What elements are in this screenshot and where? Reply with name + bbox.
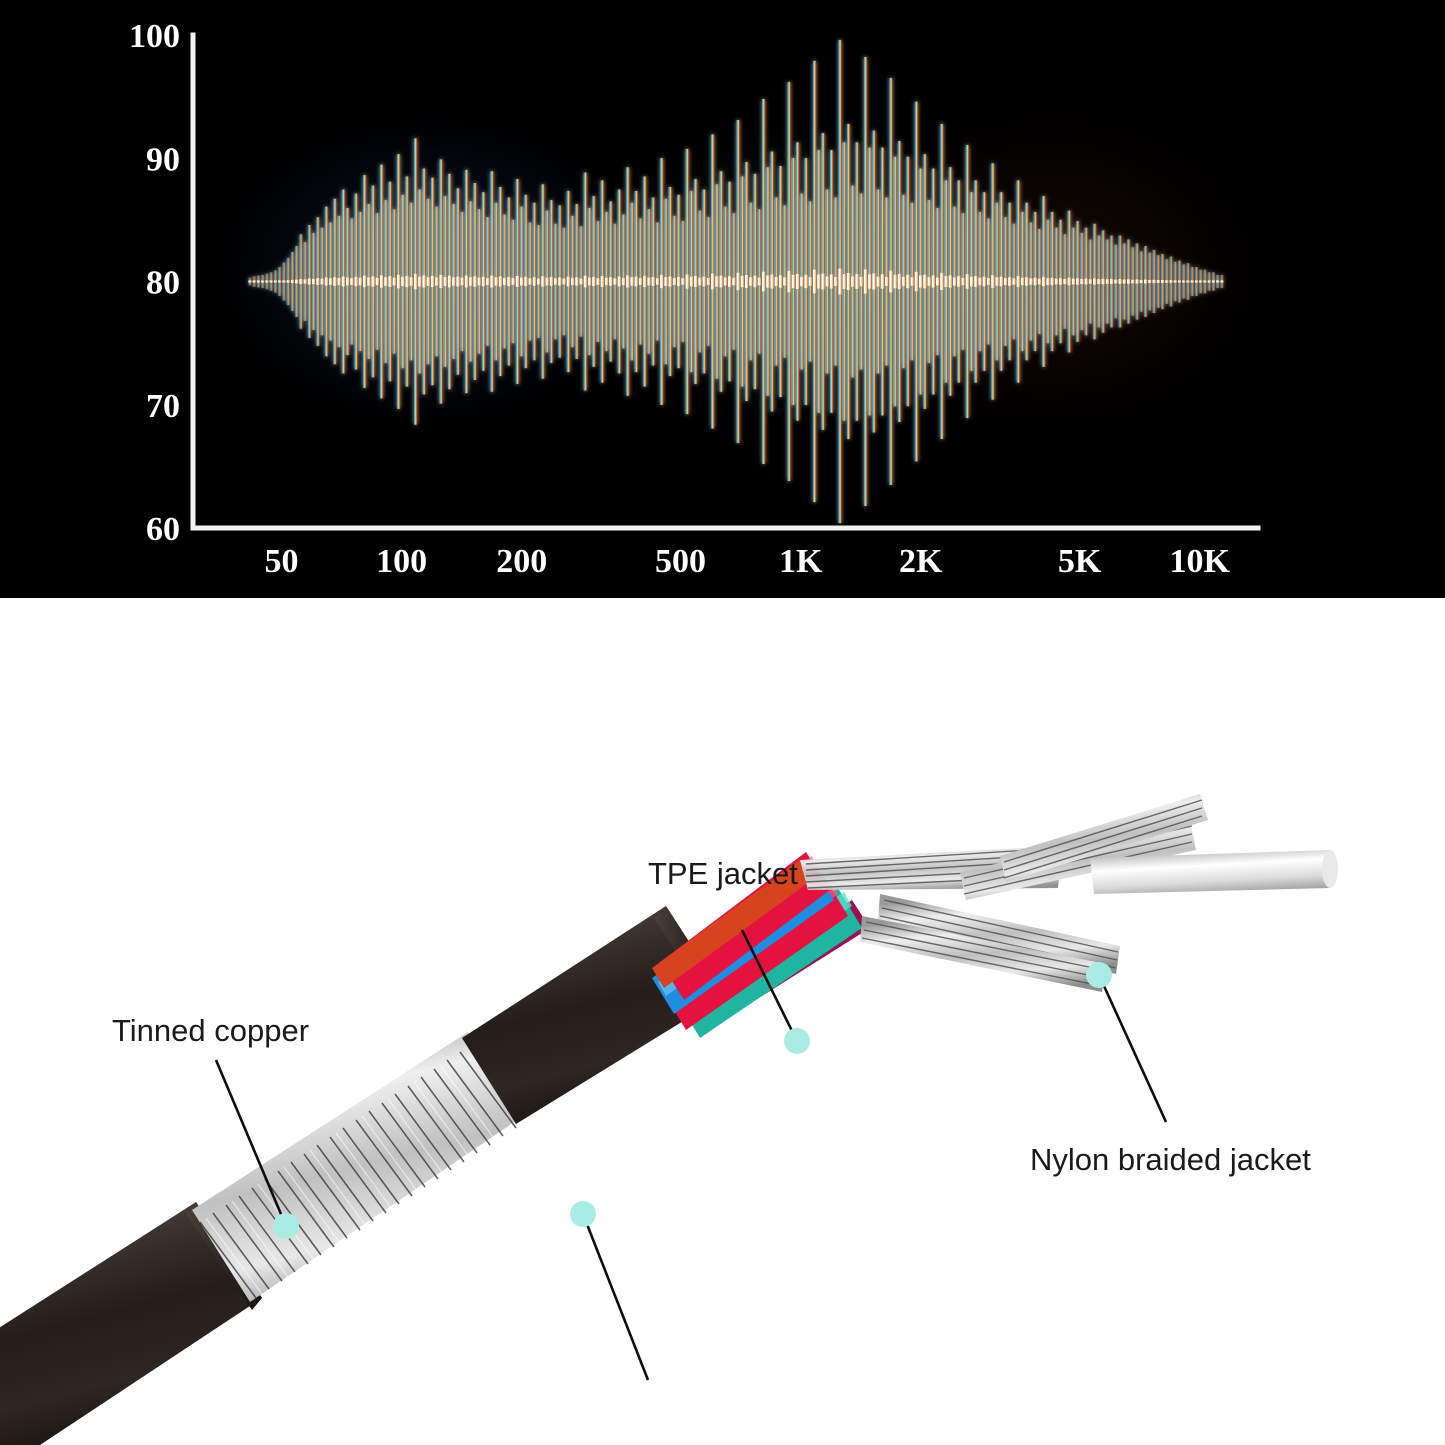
waveform-core-segment [291, 280, 294, 283]
waveform-core-segment [461, 278, 464, 285]
waveform-core-segment [448, 276, 451, 288]
waveform-core-segment [529, 278, 532, 284]
waveform-core-segment [507, 277, 510, 286]
waveform-core-segment [397, 275, 400, 289]
waveform-core-segment [1106, 279, 1109, 284]
waveform-core-segment [1012, 278, 1015, 284]
waveform-core-segment [877, 277, 880, 287]
x-tick-label: 10K [1169, 543, 1230, 580]
waveform-core-segment [1042, 277, 1045, 286]
waveform-core-segment [838, 269, 841, 295]
waveform-core-segment [1148, 280, 1151, 283]
waveform-core-segment [978, 278, 981, 285]
waveform-core-segment [380, 275, 383, 288]
waveform-core-segment [826, 277, 829, 287]
waveform-core-segment [588, 278, 591, 286]
waveform-core-segment [465, 275, 468, 287]
waveform-core-segment [308, 278, 311, 284]
waveform-core-segment [456, 276, 459, 286]
waveform-core-segment [749, 277, 752, 285]
waveform-core-segment [635, 277, 638, 287]
waveform-core-segment [1199, 280, 1202, 282]
waveform-core-segment [1195, 280, 1198, 282]
waveform-core-segment [287, 280, 290, 283]
waveform-core-segment [265, 280, 268, 282]
waveform-core-segment [422, 275, 425, 287]
waveform-core-segment [1127, 279, 1130, 284]
waveform-core-segment [613, 278, 616, 284]
waveform-core-segment [414, 274, 417, 289]
x-tick-label: 200 [496, 543, 547, 580]
y-axis-tick-labels: 10090807060 [129, 18, 180, 548]
waveform-core-segment [546, 278, 549, 286]
waveform-core-segment [1178, 280, 1181, 282]
waveform-core-segment [350, 278, 353, 285]
y-tick-label: 60 [146, 511, 180, 548]
callout-dot-enamelled-copper [570, 1201, 596, 1227]
waveform-core-segment [1059, 278, 1062, 285]
waveform-core-segment [299, 279, 302, 284]
waveform-core-segment [355, 277, 358, 286]
waveform-core-segment [338, 278, 341, 285]
waveform-core-segment [1000, 277, 1003, 287]
waveform-core-segment [911, 277, 914, 285]
waveform-core-segment [490, 276, 493, 288]
waveform-core-segment [804, 275, 807, 288]
waveform-core-segment [898, 274, 901, 289]
product-infographic: 10090807060 501002005001K2K5K10K High fi… [0, 0, 1445, 1445]
waveform-core-segment [796, 274, 799, 289]
waveform-core-segment [584, 276, 587, 288]
waveform-core-segment [754, 276, 757, 288]
waveform-core-segment [711, 274, 714, 290]
waveform-core-segment [558, 277, 561, 285]
waveform-core-segment [745, 275, 748, 288]
waveform-core-segment [478, 278, 481, 286]
waveform-core-segment [550, 277, 553, 286]
waveform-core-segment [647, 278, 650, 286]
waveform-core-segment [775, 277, 778, 286]
waveform-core-segment [715, 276, 718, 286]
waveform-core-segment [1136, 279, 1139, 283]
waveform-core-segment [571, 278, 574, 285]
waveform-core-segment [1220, 280, 1223, 282]
waveform-core-segment [541, 276, 544, 286]
waveform-core-segment [257, 280, 260, 282]
waveform-core-segment [596, 278, 599, 285]
waveform-core-segment [945, 276, 948, 287]
waveform-core-segment [516, 276, 519, 287]
waveform-core-segment [779, 275, 782, 287]
waveform-core-segment [957, 276, 960, 287]
y-tick-label: 90 [146, 141, 180, 178]
waveform-core-segment [843, 274, 846, 289]
waveform-core-segment [732, 278, 735, 285]
cable-diagram-svg: TPE jacketTinned copperNylon braided jac… [0, 598, 1445, 1445]
waveform-core-segment [834, 277, 837, 286]
waveform-core-segment [342, 277, 345, 287]
waveform-core-segment [371, 276, 374, 286]
waveform-core-segment [1157, 280, 1160, 283]
waveform-core-segment [473, 276, 476, 287]
waveform-core-segment [686, 274, 689, 288]
waveform-core-segment [363, 276, 366, 287]
waveform-core-segment [987, 278, 990, 285]
waveform-core-segment [961, 278, 964, 285]
waveform-core-segment [304, 279, 307, 283]
cable-diagram-panel: TPE jacketTinned copperNylon braided jac… [0, 598, 1445, 1445]
waveform-core-segment [486, 278, 489, 285]
waveform-core-segment [851, 276, 854, 286]
waveform-core-segment [1144, 280, 1147, 284]
waveform-core-segment [359, 278, 362, 285]
waveform-core-segment [1034, 278, 1037, 285]
waveform-core-segment [936, 278, 939, 286]
y-tick-label: 100 [129, 18, 180, 55]
waveform-core-segment [601, 276, 604, 287]
waveform-core-segment [1068, 278, 1071, 286]
waveform-core-segment [694, 276, 697, 287]
y-tick-label: 80 [146, 265, 180, 302]
waveform-core-segment [630, 277, 633, 285]
waveform-core-segment [817, 274, 820, 288]
waveform-core-segment [1029, 278, 1032, 284]
waveform-core-segment [855, 274, 858, 289]
waveform-core-segment [452, 277, 455, 285]
waveform-core-segment [766, 275, 769, 287]
waveform-core-segment [1017, 276, 1020, 287]
x-tick-label: 50 [265, 543, 299, 580]
waveform-core-segment [830, 274, 833, 288]
waveform-core-segment [1203, 280, 1206, 282]
waveform-core-segment [401, 277, 404, 286]
cable-shield-braid-left [192, 1032, 520, 1302]
x-tick-label: 500 [655, 543, 706, 580]
waveform-core-segment [1165, 280, 1168, 282]
waveform-core-segment [1216, 280, 1219, 282]
spectrum-chart-svg: 10090807060 501002005001K2K5K10K [0, 0, 1445, 598]
waveform-core-segment [681, 278, 684, 285]
waveform-core-segment [919, 275, 922, 287]
waveform-core-segment [579, 279, 582, 285]
waveform-core-segment [1140, 280, 1143, 283]
waveform-core-segment [1119, 279, 1122, 284]
waveform-core-segment [1208, 280, 1211, 282]
waveform-core-segment [321, 279, 324, 285]
waveform-core-segment [1186, 280, 1189, 282]
waveform-core-segment [1152, 280, 1155, 283]
waveform-core-segment [881, 274, 884, 288]
waveform-core-segment [248, 280, 251, 282]
waveform-core-segment [520, 277, 523, 285]
waveform-core-segment [575, 277, 578, 285]
waveform-core-segment [1182, 280, 1185, 282]
waveform-core-segment [316, 278, 319, 285]
waveform-core-segment [325, 277, 328, 285]
waveform-core-segment [966, 274, 969, 289]
waveform-core-segment [737, 273, 740, 290]
waveform-core-segment [1004, 278, 1007, 285]
x-tick-label: 2K [899, 543, 943, 580]
callout-label-tpe-jacket: TPE jacket [648, 856, 798, 891]
waveform-core-segment [524, 277, 527, 286]
waveform-core-segment [562, 279, 565, 285]
waveform-core-segment [1161, 280, 1164, 283]
waveform-core-segment [427, 277, 430, 286]
waveform-core-segment [762, 272, 765, 292]
waveform-core-segment [554, 278, 557, 284]
waveform-core-segment [652, 277, 655, 286]
waveform-core-segment [983, 277, 986, 287]
waveform-core-segment [1046, 278, 1049, 285]
x-axis-tick-labels: 501002005001K2K5K10K [265, 543, 1231, 580]
waveform-core-segment [889, 271, 892, 293]
waveform-core-segment [758, 278, 761, 286]
waveform-core-segment [847, 273, 850, 290]
waveform-core-segment [1212, 280, 1215, 282]
waveform-core-segment [431, 276, 434, 287]
waveform-core-segment [1076, 278, 1079, 285]
waveform-core-segment [974, 276, 977, 287]
waveform-core-segment [1102, 279, 1105, 285]
waveform-core-segment [894, 275, 897, 288]
waveform-core-segment [329, 278, 332, 284]
waveform-core-segment [495, 277, 498, 285]
waveform-core-segment [537, 278, 540, 284]
waveform-core-segment [1008, 277, 1011, 285]
waveform-core-segment [384, 277, 387, 286]
waveform-core-segment [1191, 280, 1194, 282]
waveform-core-segment [656, 278, 659, 284]
waveform-core-segment [940, 273, 943, 290]
waveform-core-segment [388, 276, 391, 287]
waveform-core-segment [787, 271, 790, 292]
waveform-core-segment [253, 280, 256, 282]
waveform-core-segment [270, 280, 273, 282]
waveform-core-segment [724, 277, 727, 285]
cable-braided-strands [800, 794, 1338, 992]
x-tick-label: 5K [1058, 543, 1102, 580]
waveform-core-segment [1063, 279, 1066, 284]
waveform-core-segment [932, 275, 935, 287]
waveform-core-segment [821, 274, 824, 290]
waveform-core-segment [618, 277, 621, 287]
waveform-core-segment [906, 275, 909, 288]
waveform-core-segment [1038, 279, 1041, 285]
waveform-core-segment [410, 277, 413, 285]
waveform-core-segment [435, 277, 438, 285]
waveform-core-segment [800, 277, 803, 286]
waveform-core-segment [499, 276, 502, 286]
waveform-core-segment [809, 277, 812, 286]
waveform-core-segment [991, 275, 994, 288]
y-tick-label: 70 [146, 388, 180, 425]
waveform-core-segment [902, 277, 905, 286]
waveform-core-segment [872, 273, 875, 289]
spectrum-chart-panel: 10090807060 501002005001K2K5K10K [0, 0, 1445, 598]
waveform-core-segment [533, 277, 536, 285]
callout-dot-nylon-braided-jacket [1086, 962, 1112, 988]
waveform-core-segment [885, 277, 888, 286]
waveform-core-segment [928, 277, 931, 286]
waveform-core-segment [609, 277, 612, 286]
waveform-core-segment [1072, 279, 1075, 285]
waveform-core-segment [1025, 277, 1028, 285]
callout-label-nylon-braided-jacket: Nylon braided jacket [1030, 1142, 1311, 1177]
waveform-core-segment [295, 280, 298, 284]
waveform-core-segment [1080, 279, 1083, 284]
waveform-core-segment [923, 275, 926, 289]
waveform-core-segment [660, 275, 663, 288]
waveform-core-segment [770, 275, 773, 289]
waveform-core-segment [1174, 280, 1177, 282]
waveform-core-segment [970, 277, 973, 287]
waveform-core-segment [1051, 278, 1054, 285]
waveform-core-segment [783, 277, 786, 285]
waveform-core-segment [592, 277, 595, 286]
callout-leader-line-enamelled-copper [583, 1214, 648, 1380]
waveform-core-segment [698, 278, 701, 286]
waveform-core-segment [393, 278, 396, 286]
waveform-core-segment [868, 274, 871, 288]
waveform-core-segment [1123, 279, 1126, 283]
waveform-core-segment [741, 276, 744, 287]
waveform-core-segment [367, 277, 370, 285]
callout-dot-tinned-copper [273, 1213, 299, 1239]
waveform-core-segment [677, 277, 680, 286]
waveform-core-segment [1093, 278, 1096, 284]
waveform-core-segment [1114, 280, 1117, 284]
waveform-core-segment [1110, 279, 1113, 284]
waveform-core-segment [567, 277, 570, 287]
waveform-core-segment [503, 278, 506, 285]
waveform-core-segment [605, 278, 608, 285]
waveform-core-segment [707, 278, 710, 285]
waveform-core-segment [643, 276, 646, 287]
waveform-core-segment [482, 277, 485, 287]
waveform-core-segment [728, 276, 731, 287]
waveform-core-segment [864, 269, 867, 293]
waveform-core-segment [792, 275, 795, 288]
waveform-core-segment [860, 277, 863, 286]
waveform-core-segment [703, 277, 706, 287]
waveform-core-segment [626, 275, 629, 287]
waveform-core-segment [622, 278, 625, 285]
waveform-core-segment [1021, 278, 1024, 285]
waveform-core-segment [1131, 280, 1134, 284]
waveform-core-segment [512, 278, 515, 285]
waveform-core-segment [995, 277, 998, 285]
waveform-core-segment [278, 280, 281, 282]
waveform-core-segment [1097, 279, 1100, 284]
waveform-core-segment [949, 275, 952, 287]
waveform-core-segment [469, 277, 472, 286]
x-tick-label: 100 [376, 543, 427, 580]
waveform-core-segment [261, 280, 264, 282]
waveform-core-segment [1055, 279, 1058, 285]
waveform-core-segment [274, 280, 277, 282]
waveform-core-segment [346, 278, 349, 286]
callout-dot-tpe-jacket [784, 1028, 810, 1054]
callout-label-tinned-copper: Tinned copper [112, 1013, 309, 1048]
waveform-core-segment [669, 276, 672, 286]
waveform-core-segment [333, 277, 336, 286]
waveform-core-segment [664, 277, 667, 286]
waveform-core-segment [673, 278, 676, 285]
waveform-core-segment [405, 276, 408, 287]
waveform-core-segment [690, 277, 693, 287]
waveform-core-segment [953, 277, 956, 285]
waveform-core-segment [639, 278, 642, 285]
callout-leader-line-nylon-braided-jacket [1099, 975, 1166, 1122]
waveform-core-segment [439, 275, 442, 288]
waveform-core-segment [915, 272, 918, 291]
x-tick-label: 1K [779, 543, 823, 580]
waveform-core-segment [720, 276, 723, 288]
waveform-core-segment [1085, 279, 1088, 285]
waveform-core-segment [813, 270, 816, 294]
waveform-core-segment [444, 277, 447, 286]
waveform-core-segment [282, 280, 285, 282]
waveform-core-segment [1169, 280, 1172, 283]
waveform-core-segment [1089, 279, 1092, 284]
waveform-core-segment [418, 277, 421, 287]
waveform-core-segment [312, 279, 315, 284]
waveform-core-segment [376, 278, 379, 285]
